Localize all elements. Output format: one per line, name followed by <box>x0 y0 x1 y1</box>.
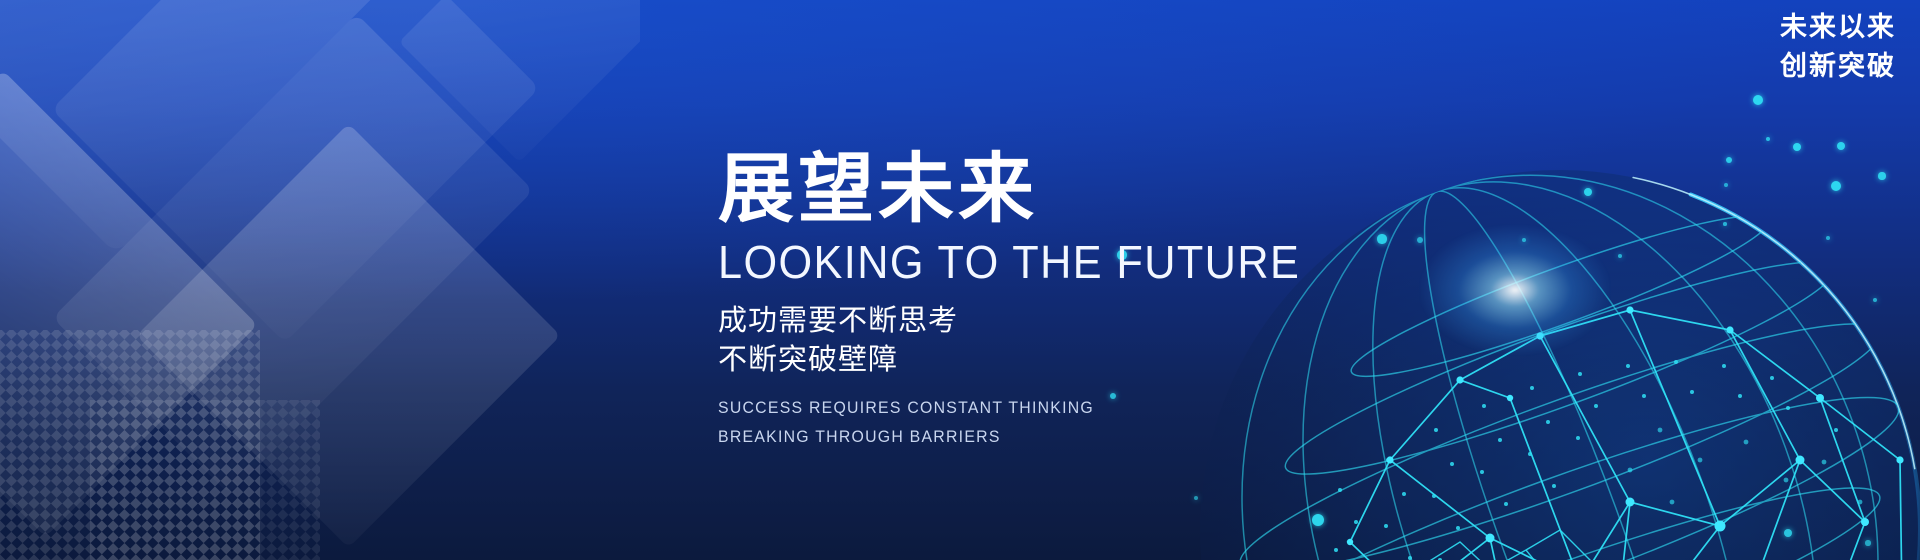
particle-dot <box>1194 496 1198 500</box>
globe-rim-glow <box>1420 225 1610 355</box>
particle-dot <box>1312 514 1324 526</box>
dot-grid-pattern <box>0 330 320 560</box>
particle-dot <box>1417 237 1423 243</box>
decor-sheet <box>0 70 258 537</box>
decor-sheet <box>136 124 560 548</box>
particle-dot <box>1377 234 1386 243</box>
particle-dot <box>1766 137 1770 141</box>
tagline-en-line2: BREAKING THROUGH BARRIERS <box>718 423 1352 452</box>
hero-copy-block: 展望未来 LOOKING TO THE FUTURE 成功需要不断思考 不断突破… <box>718 150 1378 452</box>
tagline-cn: 成功需要不断思考 不断突破壁障 <box>718 302 1378 380</box>
particle-dot <box>1726 157 1733 164</box>
tagline-en: SUCCESS REQUIRES CONSTANT THINKING BREAK… <box>718 394 1352 452</box>
particle-dot <box>1618 254 1622 258</box>
particle-dot <box>1724 183 1728 187</box>
particle-dot <box>1793 143 1801 151</box>
particle-dot <box>1753 95 1763 105</box>
globe-network-mesh <box>1350 310 1902 560</box>
particle-dot <box>1826 236 1830 240</box>
corner-slogan-line1: 未来以来 <box>1780 8 1896 47</box>
particle-dot <box>1784 529 1792 537</box>
hero-banner: 展望未来 LOOKING TO THE FUTURE 成功需要不断思考 不断突破… <box>0 0 1920 560</box>
corner-slogan-line2: 创新突破 <box>1780 47 1896 86</box>
particle-dot <box>1723 222 1727 226</box>
globe-dot-texture <box>1334 360 1862 560</box>
particle-dot <box>1522 238 1526 242</box>
tagline-cn-line2: 不断突破壁障 <box>718 341 1378 380</box>
particle-dot <box>1865 540 1870 545</box>
particle-dot <box>1878 172 1885 179</box>
tagline-cn-line1: 成功需要不断思考 <box>718 302 1378 341</box>
particle-dot <box>1873 298 1878 303</box>
particle-dot <box>1837 142 1845 150</box>
decor-sheet <box>399 0 640 162</box>
tagline-en-line1: SUCCESS REQUIRES CONSTANT THINKING <box>718 394 1352 423</box>
particle-dot <box>1831 181 1841 191</box>
globe-continent-mesh <box>1340 530 1660 560</box>
page-subtitle-en: LOOKING TO THE FUTURE <box>718 237 1338 289</box>
corner-slogan: 未来以来 创新突破 <box>1780 8 1896 86</box>
decor-sheet <box>53 14 534 495</box>
page-title: 展望未来 <box>718 150 1378 231</box>
decor-sheet <box>52 0 540 343</box>
particle-dot <box>1584 188 1592 196</box>
left-geometric-decoration <box>0 0 640 560</box>
decor-sheet <box>0 0 448 254</box>
globe-network-nodes <box>1347 306 1906 560</box>
